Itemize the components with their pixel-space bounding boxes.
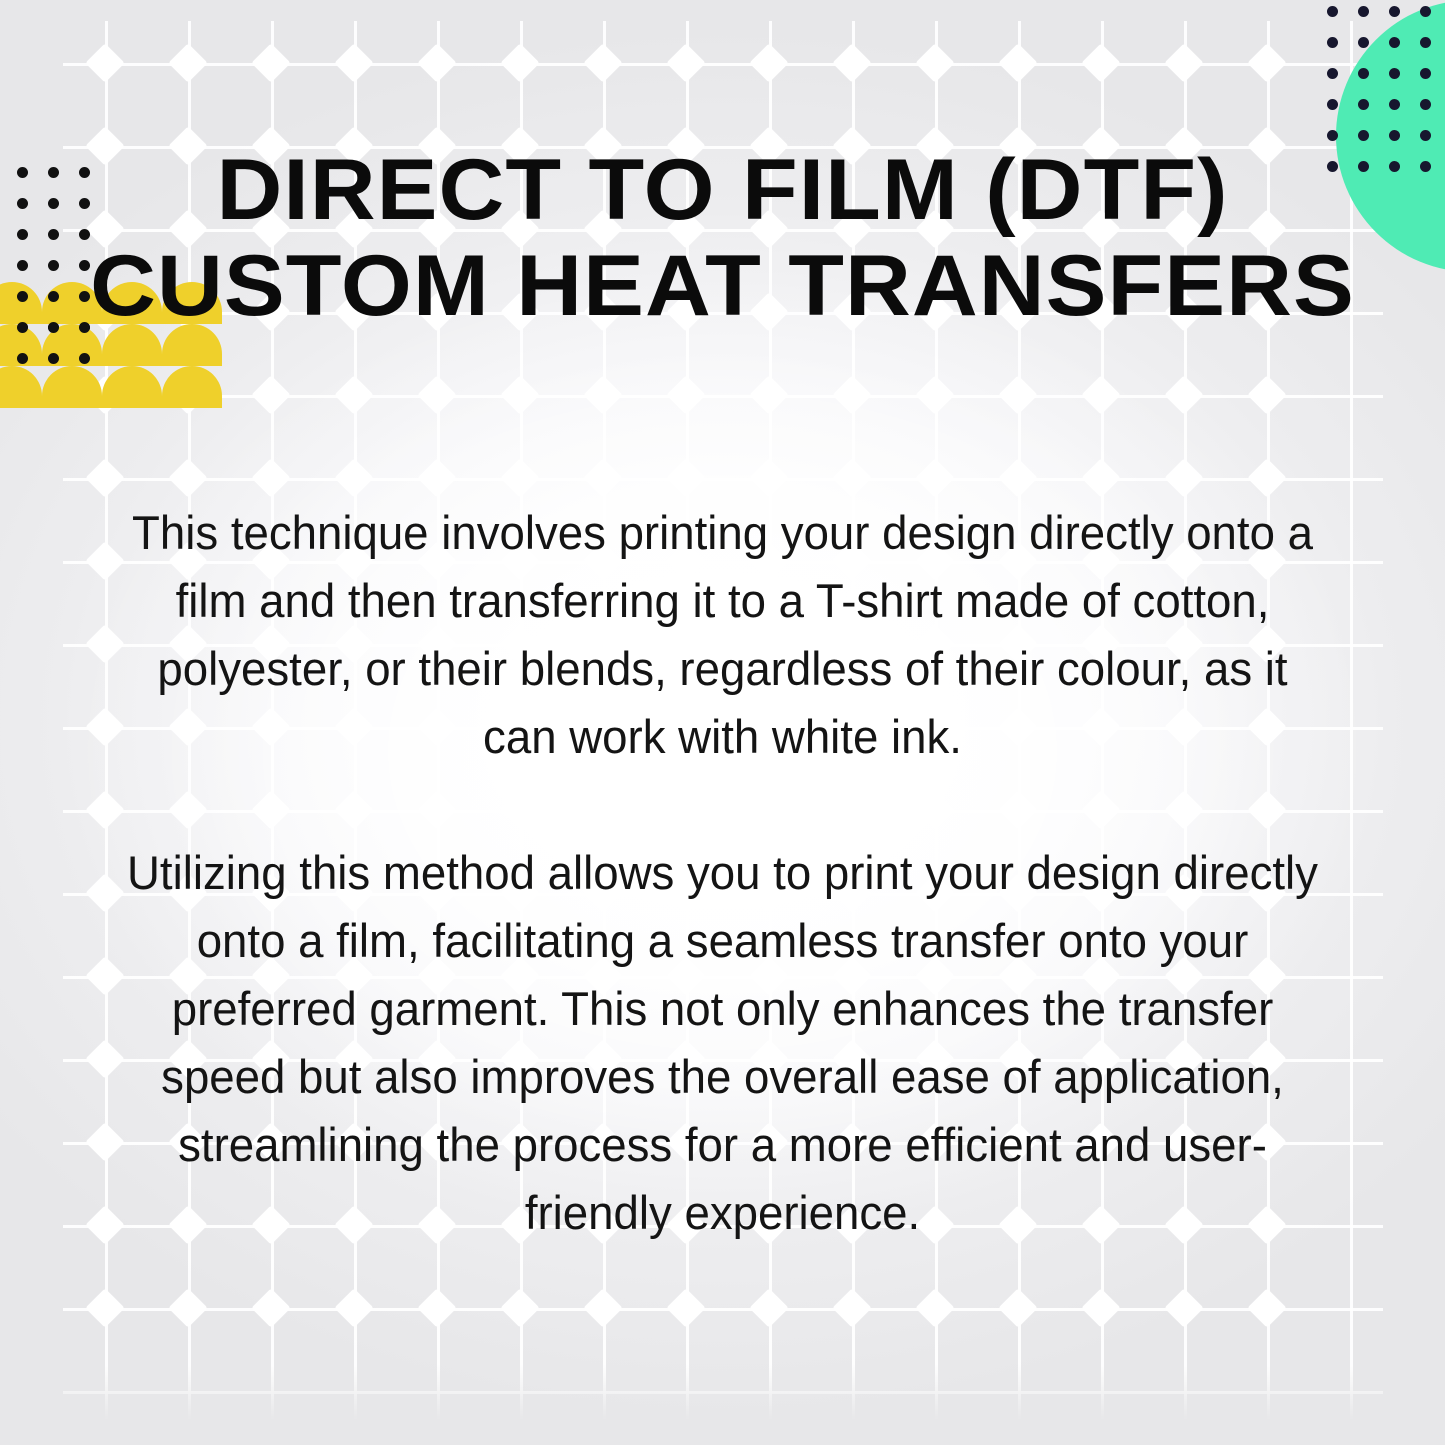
paragraph-2: Utilizing this method allows you to prin… [115, 839, 1330, 1247]
poster-content: DIRECT TO FILM (DTF) CUSTOM HEAT TRANSFE… [0, 0, 1445, 1445]
page-title: DIRECT TO FILM (DTF) CUSTOM HEAT TRANSFE… [0, 142, 1445, 334]
poster-canvas: DIRECT TO FILM (DTF) CUSTOM HEAT TRANSFE… [0, 0, 1445, 1445]
body-copy: This technique involves printing your de… [96, 452, 1349, 1294]
paragraph-1: This technique involves printing your de… [115, 499, 1330, 771]
title-line-1: DIRECT TO FILM (DTF) [0, 142, 1445, 238]
title-line-2: CUSTOM HEAT TRANSFERS [0, 238, 1445, 334]
